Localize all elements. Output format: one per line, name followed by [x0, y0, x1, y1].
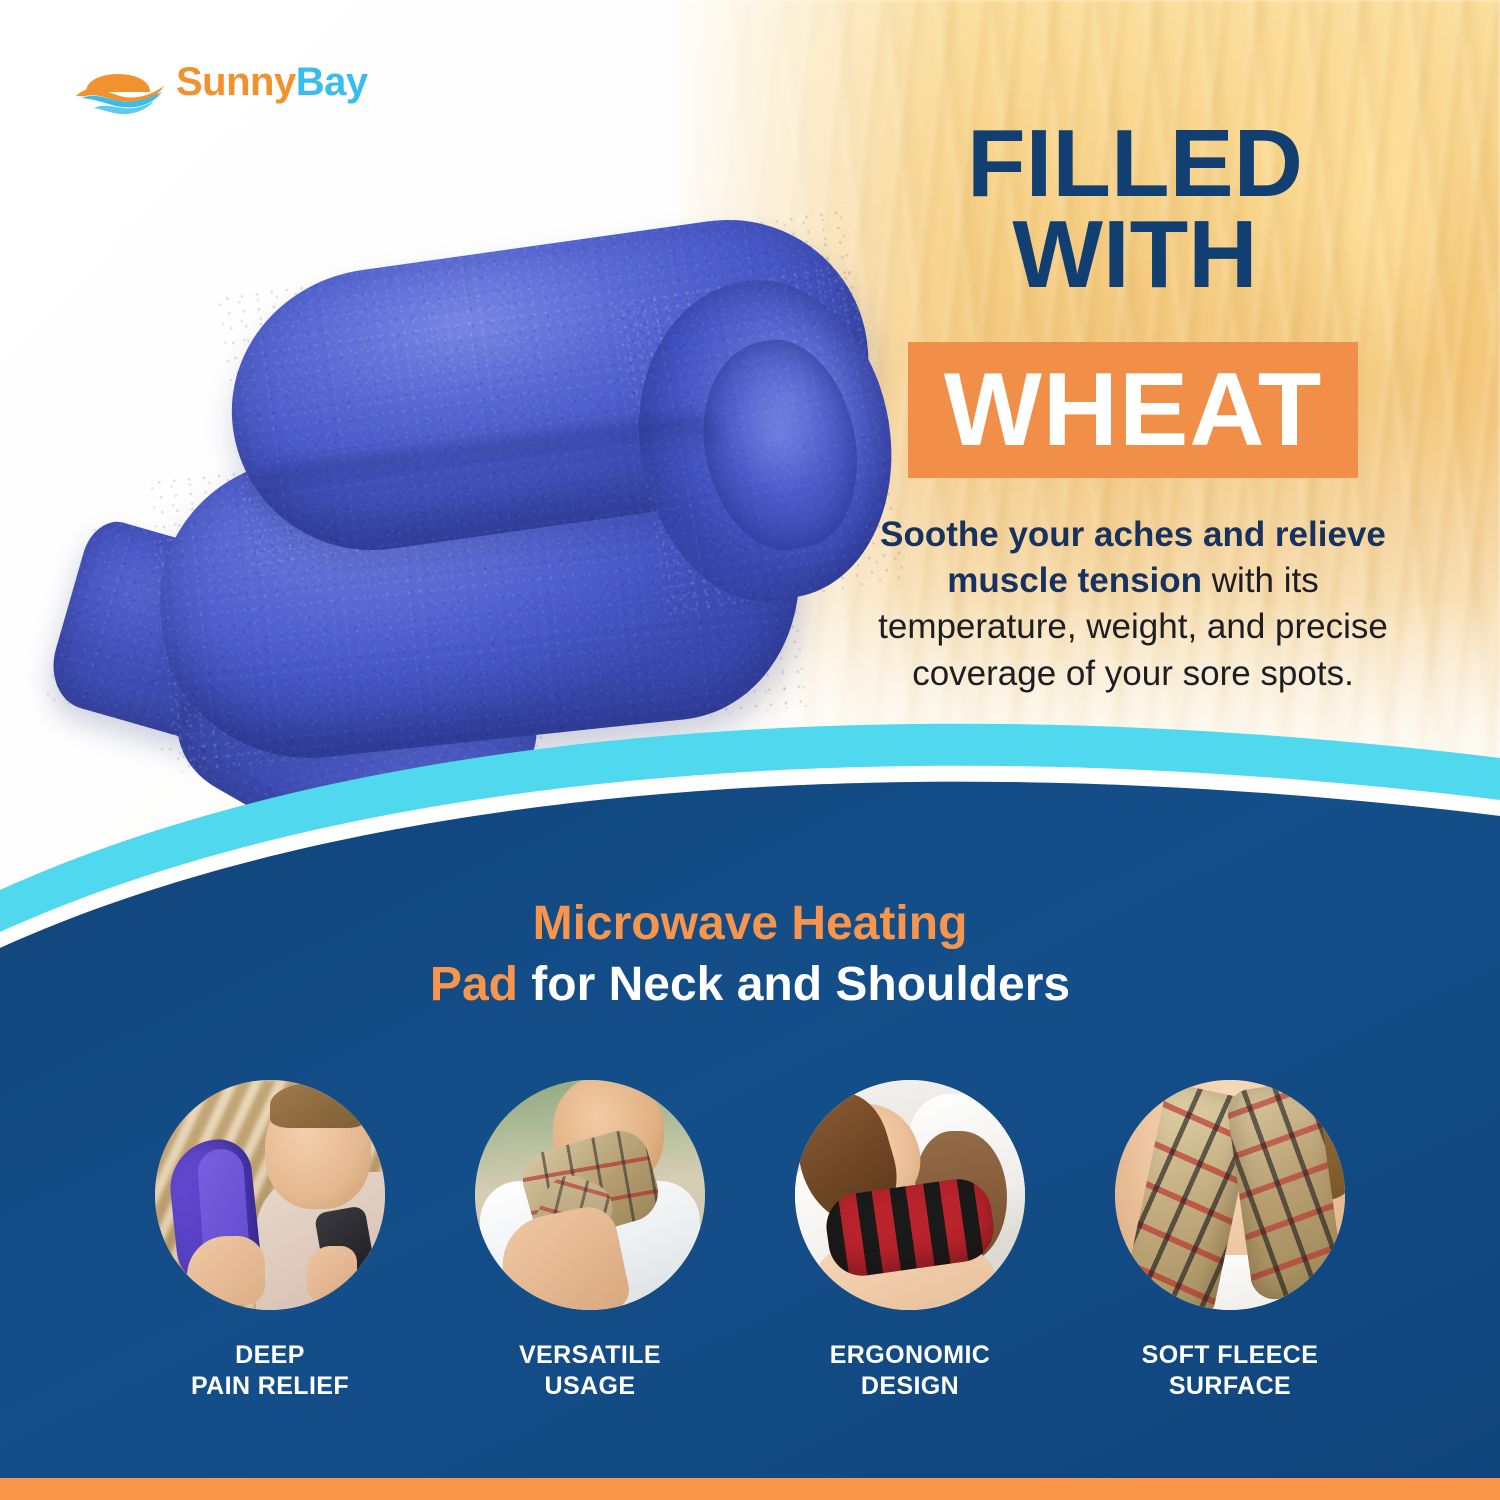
feature-photo-soft-fleece-surface	[1115, 1080, 1345, 1310]
product-title-line1-orange: Microwave Heating	[533, 897, 968, 950]
feature-label-line1: ERGONOMIC	[830, 1341, 991, 1369]
feature-item[interactable]: DEEP PAIN RELIEF	[130, 1080, 410, 1402]
product-title-line2-white: for Neck and Shoulders	[518, 958, 1070, 1011]
bottom-accent-bar	[0, 1478, 1500, 1500]
person-hand-holding-phone	[307, 1246, 358, 1306]
feature-photo-versatile-usage	[475, 1080, 705, 1310]
feature-label-line2: SURFACE	[1169, 1372, 1291, 1400]
feature-list: DEEP PAIN RELIEF VERSATILE USAGE	[0, 1080, 1500, 1402]
brand-logo[interactable]: SunnyBay	[72, 48, 372, 120]
brand-name-bay: Bay	[296, 60, 368, 104]
feature-item[interactable]: ERGONOMIC DESIGN	[770, 1080, 1050, 1402]
headline-wheat-banner: WHEAT	[908, 342, 1358, 478]
feature-label: VERSATILE USAGE	[519, 1340, 661, 1402]
product-infographic: SunnyBay FILLED WITH WHEAT Soothe your a…	[0, 0, 1500, 1500]
headline-line-1: FILLED	[900, 118, 1370, 209]
feature-photo-ergonomic-design	[795, 1080, 1025, 1310]
hero-headline: FILLED WITH	[900, 118, 1370, 300]
feature-label: ERGONOMIC DESIGN	[830, 1340, 991, 1402]
feature-item[interactable]: VERSATILE USAGE	[450, 1080, 730, 1402]
feature-label-line2: PAIN RELIEF	[191, 1372, 349, 1400]
hero-body-copy: Soothe your aches and relieve muscle ten…	[868, 512, 1398, 697]
feature-label-line1: VERSATILE	[519, 1341, 661, 1369]
feature-label-line2: USAGE	[545, 1372, 636, 1400]
feature-label-line2: DESIGN	[861, 1372, 959, 1400]
product-title: Microwave Heating Pad for Neck and Shoul…	[0, 896, 1500, 1013]
product-title-line2-orange: Pad	[430, 958, 518, 1011]
feature-label: DEEP PAIN RELIEF	[191, 1340, 349, 1402]
brand-wordmark: SunnyBay	[176, 60, 368, 105]
feature-label-line1: DEEP	[235, 1341, 305, 1369]
headline-line-2: WITH	[900, 209, 1370, 300]
brand-name-sunny: Sunny	[176, 60, 296, 104]
person-hair	[270, 1082, 367, 1128]
feature-label-line1: SOFT FLEECE	[1142, 1341, 1319, 1369]
feature-item[interactable]: SOFT FLEECE SURFACE	[1090, 1080, 1370, 1402]
feature-label: SOFT FLEECE SURFACE	[1142, 1340, 1319, 1402]
person-hand	[187, 1236, 265, 1305]
headline-banner-text: WHEAT	[944, 358, 1323, 462]
sun-wave-icon	[72, 52, 168, 114]
feature-photo-deep-pain-relief	[155, 1080, 385, 1310]
